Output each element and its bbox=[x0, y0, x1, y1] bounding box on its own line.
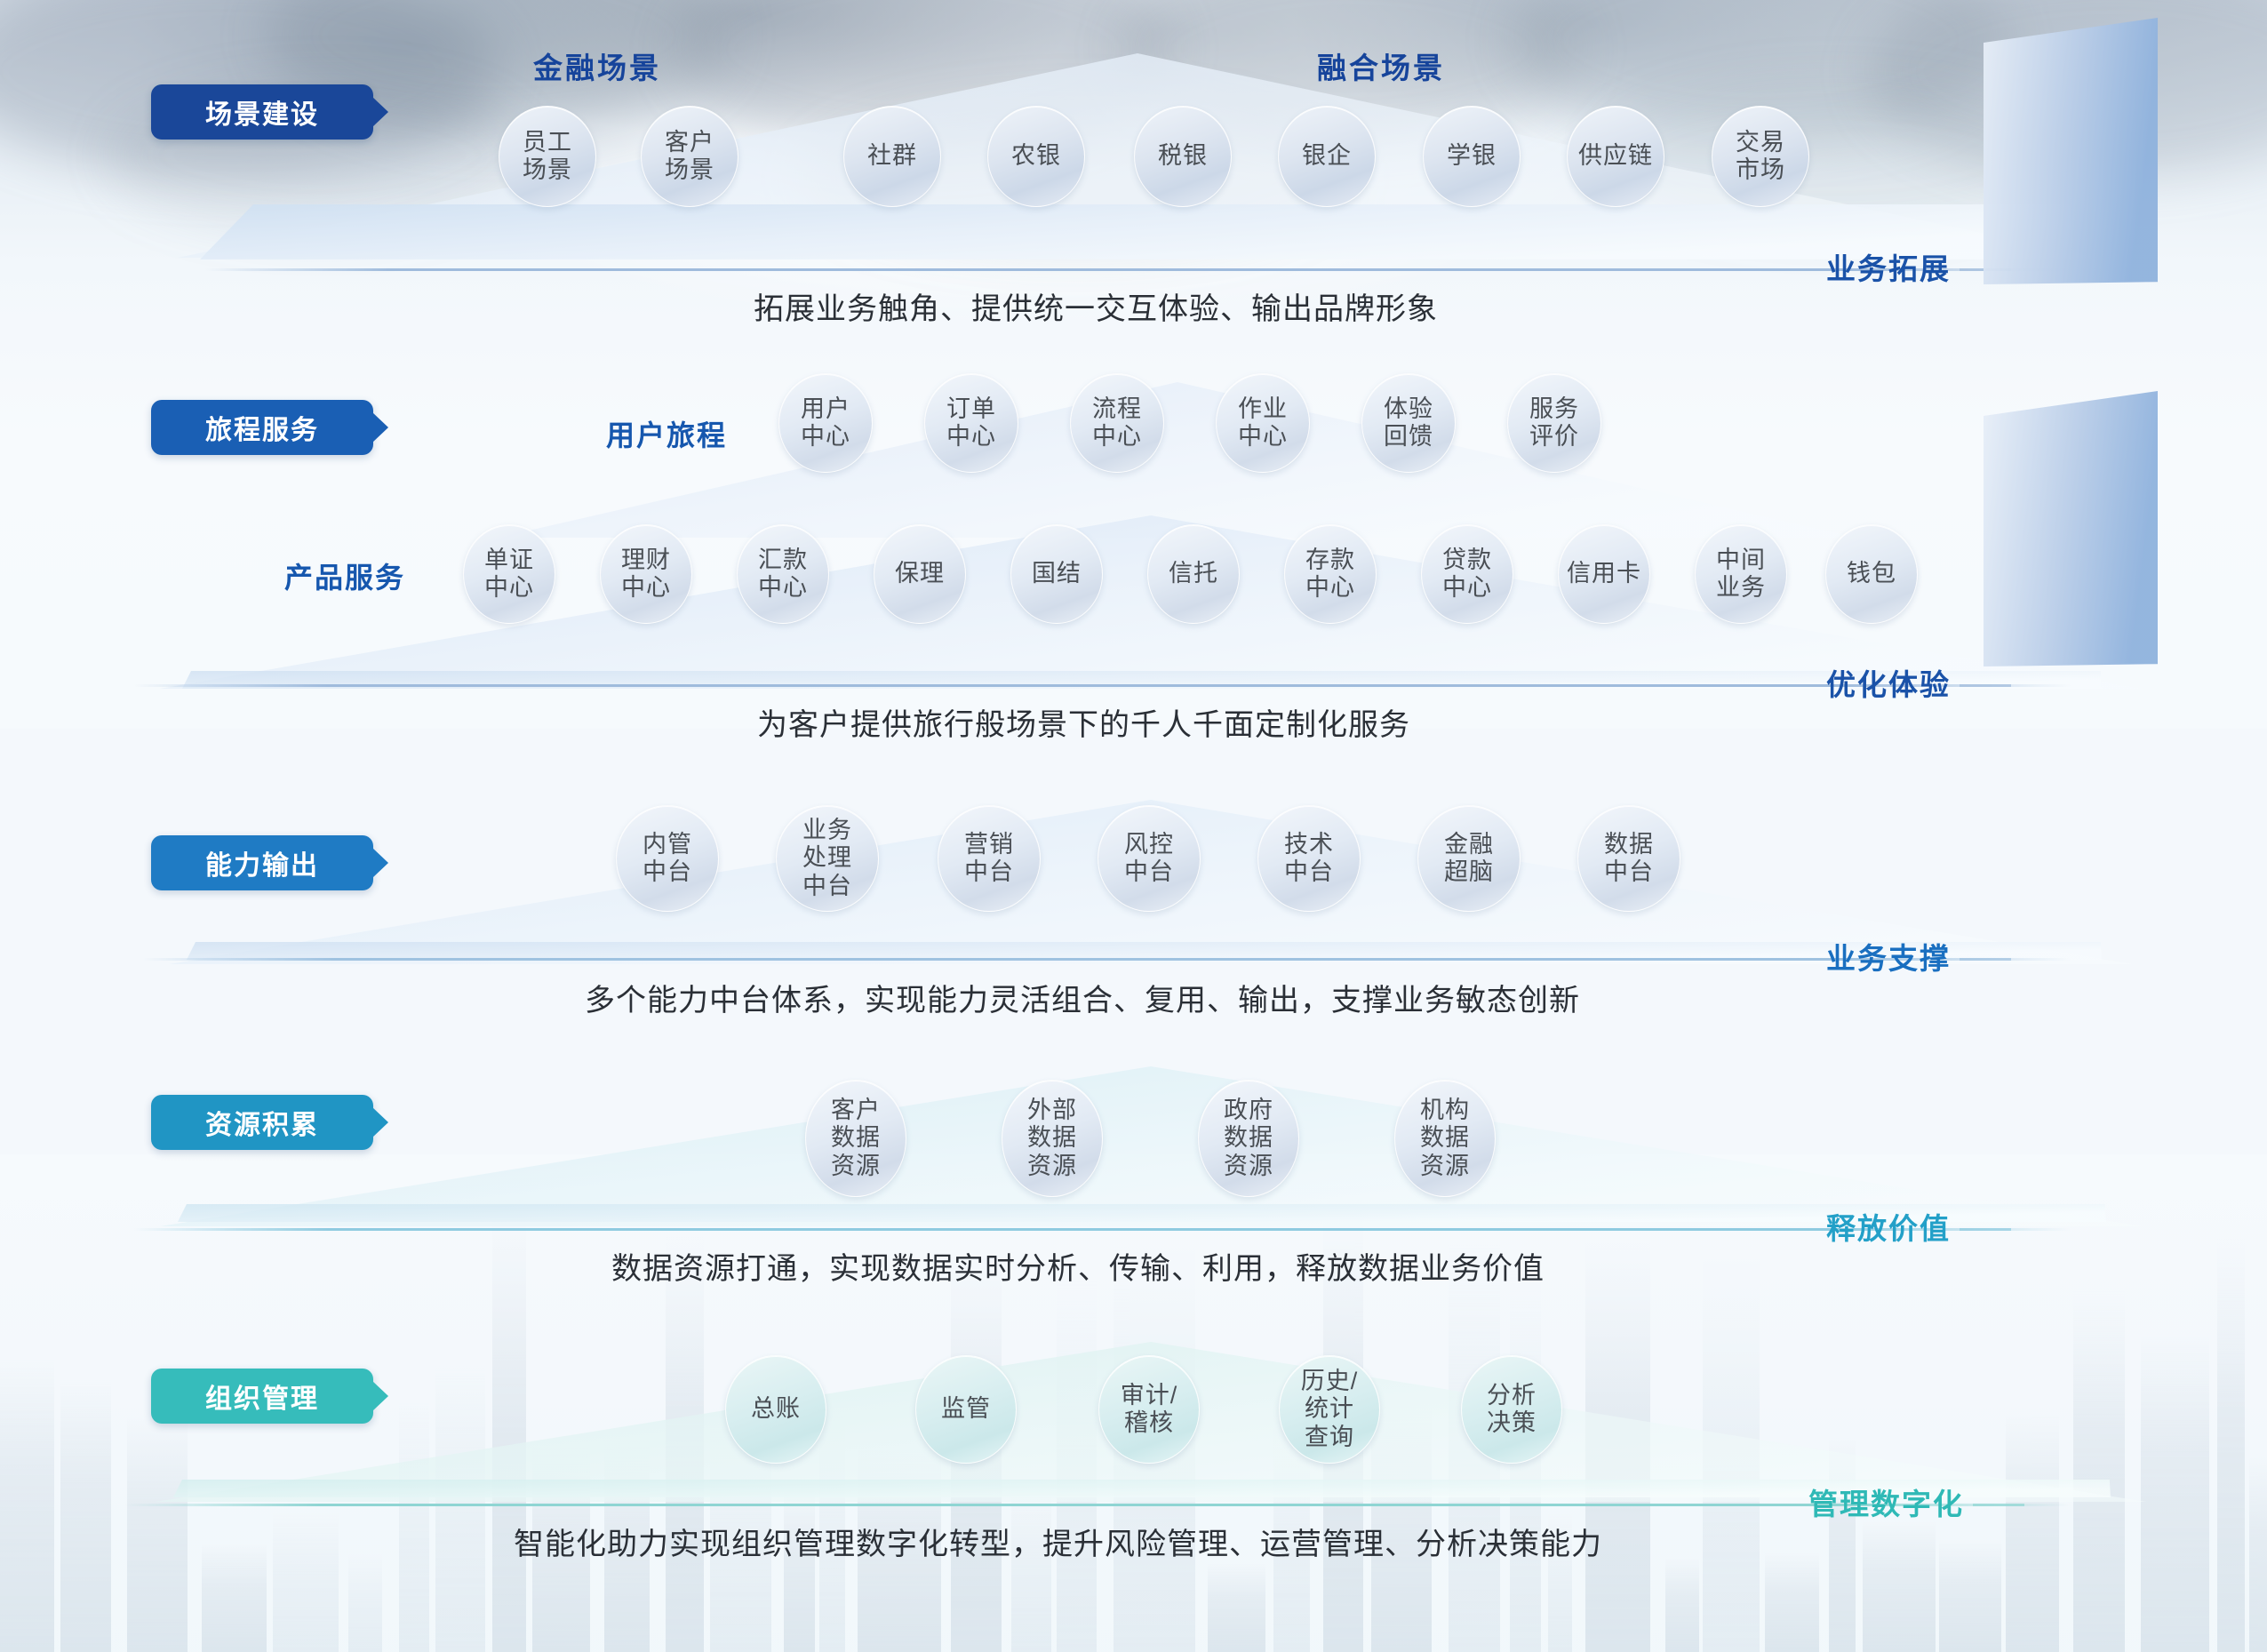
node-line: 中台 bbox=[1604, 858, 1654, 886]
resource-node-1[interactable]: 外部数据资源 bbox=[1002, 1080, 1103, 1197]
capability-node-1[interactable]: 业务处理中台 bbox=[776, 805, 879, 912]
node-line: 监管 bbox=[941, 1395, 991, 1423]
journey-node-0[interactable]: 用户中心 bbox=[778, 373, 873, 473]
node-line: 钱包 bbox=[1847, 560, 1896, 587]
node-line: 中心 bbox=[1305, 574, 1355, 602]
node-line: 中心 bbox=[484, 574, 534, 602]
organization-node-0[interactable]: 总账 bbox=[725, 1355, 826, 1464]
layer-tag-journey[interactable]: 旅程服务 bbox=[151, 400, 373, 455]
capability-node-4[interactable]: 技术中台 bbox=[1257, 805, 1361, 912]
product-node-10[interactable]: 钱包 bbox=[1825, 524, 1918, 624]
node-line: 市场 bbox=[1736, 156, 1785, 184]
journey-node-1[interactable]: 订单中心 bbox=[924, 373, 1018, 473]
resource-slope bbox=[160, 1066, 2142, 1226]
scene-node-integrated-6[interactable]: 交易市场 bbox=[1712, 106, 1809, 207]
node-line: 中台 bbox=[802, 873, 852, 900]
node-line: 理财 bbox=[621, 547, 671, 574]
layer-tag-organization-label: 组织管理 bbox=[205, 1377, 319, 1416]
product-node-4[interactable]: 国结 bbox=[1010, 524, 1103, 624]
organization-node-2[interactable]: 审计/稽核 bbox=[1098, 1355, 1200, 1464]
product-node-8[interactable]: 信用卡 bbox=[1558, 524, 1650, 624]
scene-line bbox=[204, 268, 2071, 271]
layer-tag-capability-label: 能力输出 bbox=[205, 843, 319, 882]
node-line: 政府 bbox=[1224, 1097, 1273, 1124]
node-line: 中台 bbox=[1124, 858, 1174, 886]
layer-tag-scene[interactable]: 场景建设 bbox=[151, 84, 373, 140]
journey-tagline: 为客户提供旅行般场景下的千人千面定制化服务 bbox=[757, 700, 1410, 744]
scene-node-integrated-1[interactable]: 农银 bbox=[987, 106, 1085, 207]
layer-tag-scene-arrow-nub bbox=[372, 97, 388, 127]
resource-node-3[interactable]: 机构数据资源 bbox=[1394, 1080, 1496, 1197]
node-line: 流程 bbox=[1092, 395, 1142, 423]
layer-tag-capability[interactable]: 能力输出 bbox=[151, 835, 373, 890]
node-line: 外部 bbox=[1027, 1097, 1077, 1124]
resource-node-0[interactable]: 客户数据资源 bbox=[805, 1080, 906, 1197]
node-line: 保理 bbox=[895, 560, 945, 587]
section-heading-financial: 金融场景 bbox=[533, 44, 661, 87]
node-line: 回馈 bbox=[1384, 423, 1433, 451]
node-line: 中心 bbox=[758, 574, 808, 602]
scene-keyword: 业务拓展 bbox=[1826, 245, 1951, 288]
node-line: 业务 bbox=[802, 817, 852, 844]
layer-tag-capability-arrow-nub bbox=[372, 848, 388, 878]
organization-line bbox=[124, 1504, 2071, 1506]
node-line: 学银 bbox=[1447, 142, 1497, 170]
node-line: 营销 bbox=[964, 831, 1014, 858]
product-node-1[interactable]: 理财中心 bbox=[600, 524, 692, 624]
node-line: 业务 bbox=[1716, 574, 1766, 602]
node-line: 信用卡 bbox=[1567, 560, 1641, 587]
capability-node-6[interactable]: 数据中台 bbox=[1577, 805, 1680, 912]
layer-tag-organization-arrow-nub bbox=[372, 1381, 388, 1411]
node-line: 内管 bbox=[643, 831, 692, 858]
node-line: 数据 bbox=[831, 1124, 881, 1152]
node-line: 体验 bbox=[1384, 395, 1433, 423]
scene-band-base bbox=[200, 204, 2075, 259]
node-line: 汇款 bbox=[758, 547, 808, 574]
node-line: 中心 bbox=[1092, 423, 1142, 451]
node-line: 决策 bbox=[1487, 1409, 1537, 1437]
node-line: 数据 bbox=[1604, 831, 1654, 858]
layer-tag-journey-arrow-nub bbox=[372, 412, 388, 443]
node-line: 中心 bbox=[621, 574, 671, 602]
node-line: 机构 bbox=[1420, 1097, 1470, 1124]
capability-line bbox=[142, 958, 2071, 961]
node-line: 中间 bbox=[1716, 547, 1766, 574]
node-line: 资源 bbox=[1224, 1153, 1273, 1180]
node-line: 中心 bbox=[1238, 423, 1288, 451]
node-line: 统计 bbox=[1305, 1395, 1354, 1423]
node-line: 总账 bbox=[751, 1395, 801, 1423]
capability-tail bbox=[1960, 958, 2011, 961]
capability-tagline: 多个能力中台体系，实现能力灵活组合、复用、输出，支撑业务敏态创新 bbox=[585, 976, 1580, 1019]
row-label-user-journey: 用户旅程 bbox=[606, 413, 727, 454]
node-line: 单证 bbox=[484, 547, 534, 574]
resource-tagline: 数据资源打通，实现数据实时分析、传输、利用，释放数据业务价值 bbox=[611, 1244, 1545, 1288]
scene-node-financial-0[interactable]: 员工场景 bbox=[499, 106, 596, 207]
node-line: 审计/ bbox=[1121, 1382, 1178, 1409]
node-line: 用户 bbox=[801, 395, 850, 423]
node-line: 银企 bbox=[1302, 142, 1352, 170]
organization-tagline: 智能化助力实现组织管理数字化转型，提升风险管理、运营管理、分析决策能力 bbox=[514, 1520, 1602, 1563]
node-line: 场景 bbox=[665, 156, 714, 184]
scene-node-integrated-3[interactable]: 银企 bbox=[1278, 106, 1376, 207]
scene-node-integrated-5[interactable]: 供应链 bbox=[1567, 106, 1664, 207]
node-line: 作业 bbox=[1238, 395, 1288, 423]
node-line: 农银 bbox=[1011, 142, 1061, 170]
section-heading-integrated: 融合场景 bbox=[1317, 44, 1445, 87]
node-line: 超脑 bbox=[1444, 858, 1494, 886]
node-line: 评价 bbox=[1529, 423, 1579, 451]
scene-node-integrated-0[interactable]: 社群 bbox=[843, 106, 941, 207]
node-line: 风控 bbox=[1124, 831, 1174, 858]
capability-node-3[interactable]: 风控中台 bbox=[1098, 805, 1201, 912]
journey-node-2[interactable]: 流程中心 bbox=[1070, 373, 1164, 473]
organization-node-4[interactable]: 分析决策 bbox=[1461, 1355, 1562, 1464]
journey-node-4[interactable]: 体验回馈 bbox=[1361, 373, 1456, 473]
capability-node-5[interactable]: 金融超脑 bbox=[1417, 805, 1521, 912]
node-line: 数据 bbox=[1224, 1124, 1273, 1152]
node-line: 中心 bbox=[801, 423, 850, 451]
node-line: 税银 bbox=[1158, 142, 1208, 170]
node-line: 客户 bbox=[665, 129, 714, 156]
node-line: 员工 bbox=[523, 129, 572, 156]
product-node-3[interactable]: 保理 bbox=[874, 524, 966, 624]
node-line: 金融 bbox=[1444, 831, 1494, 858]
node-line: 资源 bbox=[831, 1153, 881, 1180]
node-line: 数据 bbox=[1027, 1124, 1077, 1152]
product-node-0[interactable]: 单证中心 bbox=[463, 524, 555, 624]
layer-tag-journey-label: 旅程服务 bbox=[205, 408, 319, 447]
journey-top-slope bbox=[498, 382, 1857, 538]
node-line: 资源 bbox=[1420, 1153, 1470, 1180]
product-node-2[interactable]: 汇款中心 bbox=[737, 524, 829, 624]
layer-tag-resource[interactable]: 资源积累 bbox=[151, 1095, 373, 1150]
resource-keyword: 释放价值 bbox=[1826, 1205, 1951, 1248]
node-line: 处理 bbox=[802, 844, 852, 872]
node-line: 国结 bbox=[1032, 560, 1082, 587]
journey-tail bbox=[1960, 684, 2011, 687]
resource-band-base bbox=[178, 1204, 2106, 1222]
scene-node-integrated-4[interactable]: 学银 bbox=[1423, 106, 1521, 207]
node-line: 中心 bbox=[946, 423, 996, 451]
journey-node-5[interactable]: 服务评价 bbox=[1507, 373, 1601, 473]
organization-node-1[interactable]: 监管 bbox=[915, 1355, 1017, 1464]
node-line: 数据 bbox=[1420, 1124, 1470, 1152]
journey-node-3[interactable]: 作业中心 bbox=[1216, 373, 1310, 473]
row-label-product-service: 产品服务 bbox=[284, 555, 405, 596]
scene-node-integrated-2[interactable]: 税银 bbox=[1134, 106, 1232, 207]
journey-keyword: 优化体验 bbox=[1826, 661, 1951, 704]
scene-node-financial-1[interactable]: 客户场景 bbox=[641, 106, 738, 207]
node-line: 供应链 bbox=[1578, 142, 1653, 170]
product-node-5[interactable]: 信托 bbox=[1147, 524, 1240, 624]
organization-tail bbox=[1973, 1504, 2024, 1506]
node-line: 分析 bbox=[1487, 1382, 1537, 1409]
node-line: 社群 bbox=[867, 142, 917, 170]
node-line: 中台 bbox=[1284, 858, 1334, 886]
layer-tag-resource-arrow-nub bbox=[372, 1107, 388, 1137]
node-line: 场景 bbox=[523, 156, 572, 184]
node-line: 技术 bbox=[1284, 831, 1334, 858]
organization-keyword: 管理数字化 bbox=[1808, 1480, 1964, 1523]
node-line: 客户 bbox=[831, 1097, 881, 1124]
node-line: 信托 bbox=[1169, 560, 1218, 587]
product-node-6[interactable]: 存款中心 bbox=[1284, 524, 1377, 624]
capability-node-0[interactable]: 内管中台 bbox=[616, 805, 719, 912]
node-line: 稽核 bbox=[1124, 1409, 1174, 1437]
ribbon-eco-link bbox=[1984, 18, 2158, 284]
scene-tagline: 拓展业务触角、提供统一交互体验、输出品牌形象 bbox=[754, 284, 1438, 328]
node-line: 订单 bbox=[946, 395, 996, 423]
resource-node-2[interactable]: 政府数据资源 bbox=[1198, 1080, 1299, 1197]
capability-keyword: 业务支撑 bbox=[1826, 935, 1951, 978]
resource-tail bbox=[1960, 1228, 2011, 1231]
node-line: 查询 bbox=[1305, 1424, 1354, 1451]
node-line: 贷款 bbox=[1442, 547, 1492, 574]
node-line: 存款 bbox=[1305, 547, 1355, 574]
node-line: 历史/ bbox=[1301, 1368, 1359, 1395]
ribbon-capital-invest bbox=[1984, 391, 2158, 666]
node-line: 交易 bbox=[1736, 129, 1785, 156]
node-line: 中台 bbox=[643, 858, 692, 886]
capability-node-2[interactable]: 营销中台 bbox=[938, 805, 1041, 912]
resource-line bbox=[133, 1228, 2071, 1231]
layer-tag-resource-label: 资源积累 bbox=[205, 1103, 319, 1142]
layer-tag-organization[interactable]: 组织管理 bbox=[151, 1369, 373, 1424]
product-node-9[interactable]: 中间业务 bbox=[1695, 524, 1787, 624]
capability-band-base bbox=[187, 942, 2102, 960]
journey-line bbox=[133, 684, 2071, 687]
layer-tag-scene-label: 场景建设 bbox=[205, 92, 319, 132]
organization-node-3[interactable]: 历史/统计查询 bbox=[1279, 1355, 1380, 1464]
node-line: 服务 bbox=[1529, 395, 1579, 423]
product-node-7[interactable]: 贷款中心 bbox=[1421, 524, 1513, 624]
node-line: 资源 bbox=[1027, 1153, 1077, 1180]
node-line: 中心 bbox=[1442, 574, 1492, 602]
node-line: 中台 bbox=[964, 858, 1014, 886]
